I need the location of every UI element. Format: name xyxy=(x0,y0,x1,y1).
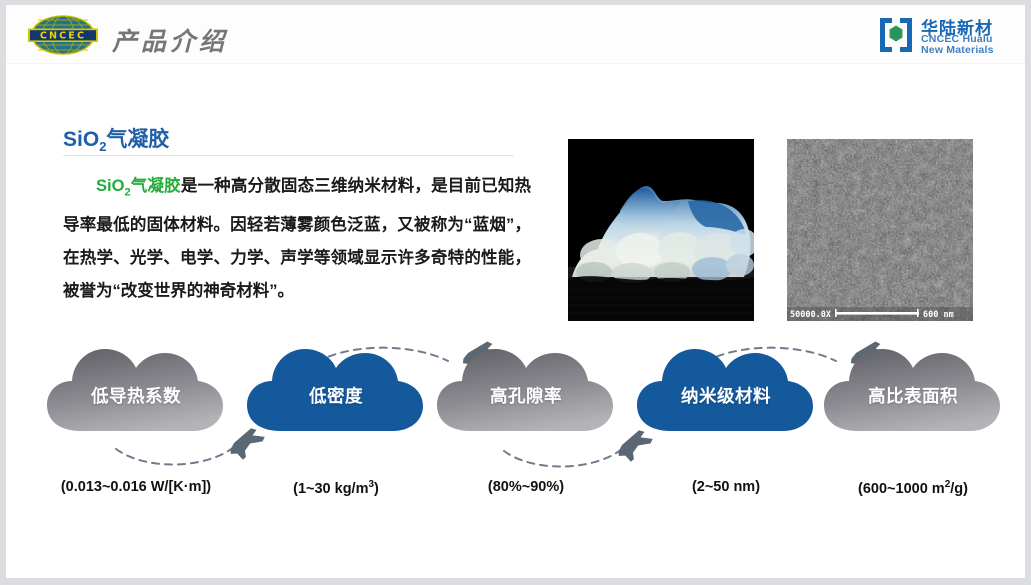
description-paragraph: SiO2气凝胶是一种高分散固态三维纳米材料，是目前已知热导率最低的固体材料。因轻… xyxy=(63,170,531,308)
section-heading: SiO2气凝胶 xyxy=(63,123,169,154)
page-title: 产品介绍 xyxy=(112,22,228,58)
cloud-item-3[interactable]: 纳米级材料 xyxy=(631,335,821,445)
cloud-value-4-main: (600~1000 m xyxy=(858,481,945,497)
cloud-item-0[interactable]: 低导热系数 xyxy=(41,335,231,445)
hualu-mark-icon xyxy=(877,15,915,55)
cloud-value-1-main: (1~30 kg/m xyxy=(293,481,368,497)
sem-magnification-label: 50000.0X xyxy=(790,310,831,320)
dashed-arc-3 xyxy=(504,449,622,467)
cloud-value-1-tail: ) xyxy=(374,481,379,497)
cloud-label-1: 低密度 xyxy=(241,383,431,408)
paragraph-highlight-suffix: 气凝胶 xyxy=(131,177,181,195)
cloud-label-4: 高比表面积 xyxy=(818,383,1008,408)
sem-micrograph-photo: 50000.0X 600 nm xyxy=(787,139,973,321)
cloud-item-1[interactable]: 低密度 xyxy=(241,335,431,445)
cloud-diagram: 低导热系数 (0.013~0.016 W/[K·m]) 低密度 (1~30 kg… xyxy=(6,335,1025,515)
cncec-logo: CNCEC xyxy=(21,14,105,56)
paragraph-highlight-prefix: SiO xyxy=(96,177,124,195)
svg-text:CNCEC: CNCEC xyxy=(40,31,86,42)
sem-scale-label: 600 nm xyxy=(923,310,954,320)
cloud-value-4: (600~1000 m2/g) xyxy=(793,479,1025,497)
cloud-item-2[interactable]: 高孔隙率 xyxy=(431,335,621,445)
cloud-value-4-tail: /g) xyxy=(950,481,968,497)
cloud-item-4[interactable]: 高比表面积 xyxy=(818,335,1008,445)
section-heading-prefix: SiO xyxy=(63,128,99,151)
paragraph-highlight: SiO2气凝胶 xyxy=(96,177,181,195)
dashed-arc-1 xyxy=(116,447,234,465)
cloud-label-2: 高孔隙率 xyxy=(431,383,621,408)
aerogel-sample-photo xyxy=(568,139,754,321)
hualu-logo: 华陆新材 CNCEC Hualu New Materials xyxy=(877,14,1012,56)
cloud-label-3: 纳米级材料 xyxy=(631,383,821,408)
section-heading-suffix: 气凝胶 xyxy=(106,128,169,151)
slide-canvas: CNCEC 产品介绍 华陆新材 CNCEC Hualu New Material… xyxy=(6,5,1025,578)
hualu-wordmark-en-line2: New Materials xyxy=(921,44,994,56)
cloud-label-0: 低导热系数 xyxy=(41,383,231,408)
paragraph-body: 是一种高分散固态三维纳米材料，是目前已知热导率最低的固体材料。因轻若薄雾颜色泛蓝… xyxy=(63,177,531,300)
section-heading-underline xyxy=(63,155,514,156)
header-divider xyxy=(6,63,1025,64)
